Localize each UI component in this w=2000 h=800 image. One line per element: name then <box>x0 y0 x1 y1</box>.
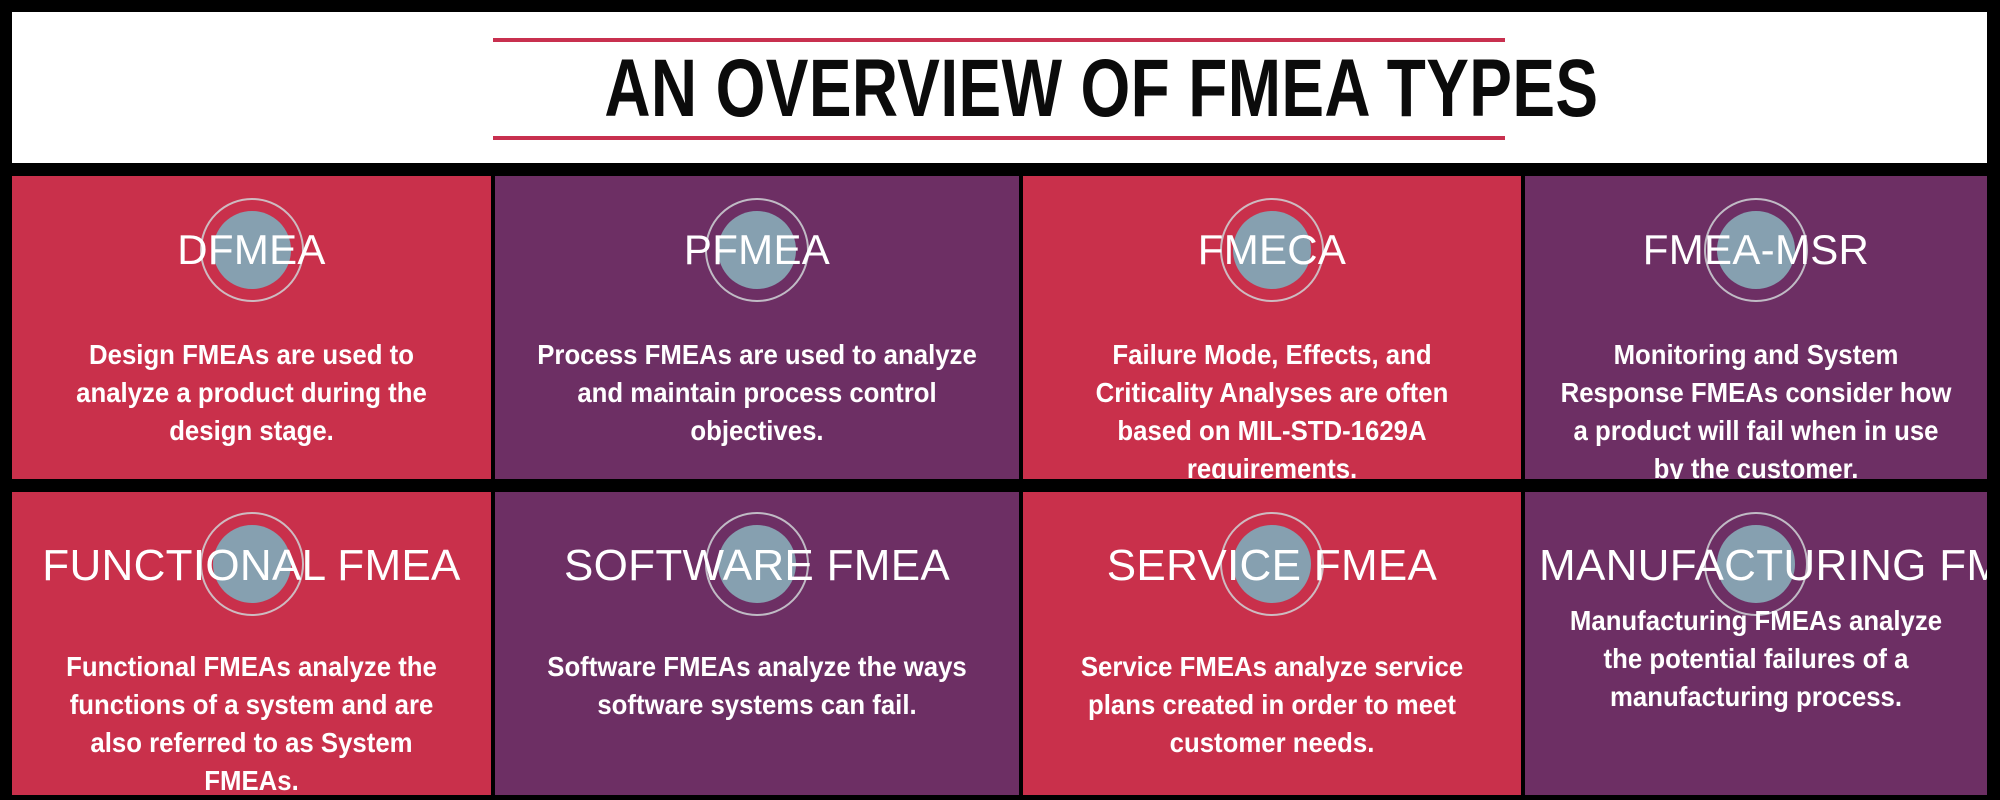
card-service-fmea[interactable]: SERVICE FMEA Service FMEAs analyze servi… <box>1023 492 1521 795</box>
card-title: MANUFACTURING FMEA <box>1539 542 1987 590</box>
header-rule-top <box>493 38 1505 42</box>
card-row-1: DFMEA Design FMEAs are used to analyze a… <box>12 176 1987 479</box>
card-title: FUNCTIONAL FMEA <box>42 542 460 590</box>
card-body: Functional FMEAs analyze the functions o… <box>48 648 456 795</box>
card-body: Service FMEAs analyze service plans crea… <box>1059 648 1484 762</box>
card-software-fmea[interactable]: SOFTWARE FMEA Software FMEAs analyze the… <box>495 492 1019 795</box>
row-divider <box>12 479 1987 492</box>
card-title: DFMEA <box>177 226 326 274</box>
card-body: Design FMEAs are used to analyze a produ… <box>48 336 456 450</box>
card-fmeca[interactable]: FMECA Failure Mode, Effects, and Critica… <box>1023 176 1521 479</box>
card-title: SERVICE FMEA <box>1107 542 1437 590</box>
page-title: AN OVERVIEW OF FMEA TYPES <box>604 44 1393 134</box>
card-dfmea[interactable]: DFMEA Design FMEAs are used to analyze a… <box>12 176 491 479</box>
card-body: Manufacturing FMEAs analyze the potentia… <box>1560 602 1952 716</box>
card-manufacturing-fmea[interactable]: MANUFACTURING FMEA Manufacturing FMEAs a… <box>1525 492 1987 795</box>
card-pfmea[interactable]: PFMEA Process FMEAs are used to analyze … <box>495 176 1019 479</box>
card-title: FMECA <box>1198 226 1347 274</box>
header-rule-bottom <box>493 136 1505 140</box>
card-body: Monitoring and System Response FMEAs con… <box>1560 336 1952 479</box>
card-title: FMEA-MSR <box>1643 226 1869 274</box>
card-row-2: FUNCTIONAL FMEA Functional FMEAs analyze… <box>12 492 1987 795</box>
card-fmea-msr[interactable]: FMEA-MSR Monitoring and System Response … <box>1525 176 1987 479</box>
card-body: Process FMEAs are used to analyze and ma… <box>533 336 982 450</box>
header-grid-divider <box>12 163 1987 176</box>
header-inner: AN OVERVIEW OF FMEA TYPES <box>493 32 1505 144</box>
card-body: Failure Mode, Effects, and Criticality A… <box>1059 336 1484 479</box>
card-title: PFMEA <box>684 226 830 274</box>
card-title: SOFTWARE FMEA <box>564 542 950 590</box>
header-banner: AN OVERVIEW OF FMEA TYPES <box>12 12 1987 163</box>
infographic-root: AN OVERVIEW OF FMEA TYPES DFMEA Design F… <box>0 0 2000 800</box>
card-body: Software FMEAs analyze the ways software… <box>533 648 982 724</box>
card-functional-fmea[interactable]: FUNCTIONAL FMEA Functional FMEAs analyze… <box>12 492 491 795</box>
